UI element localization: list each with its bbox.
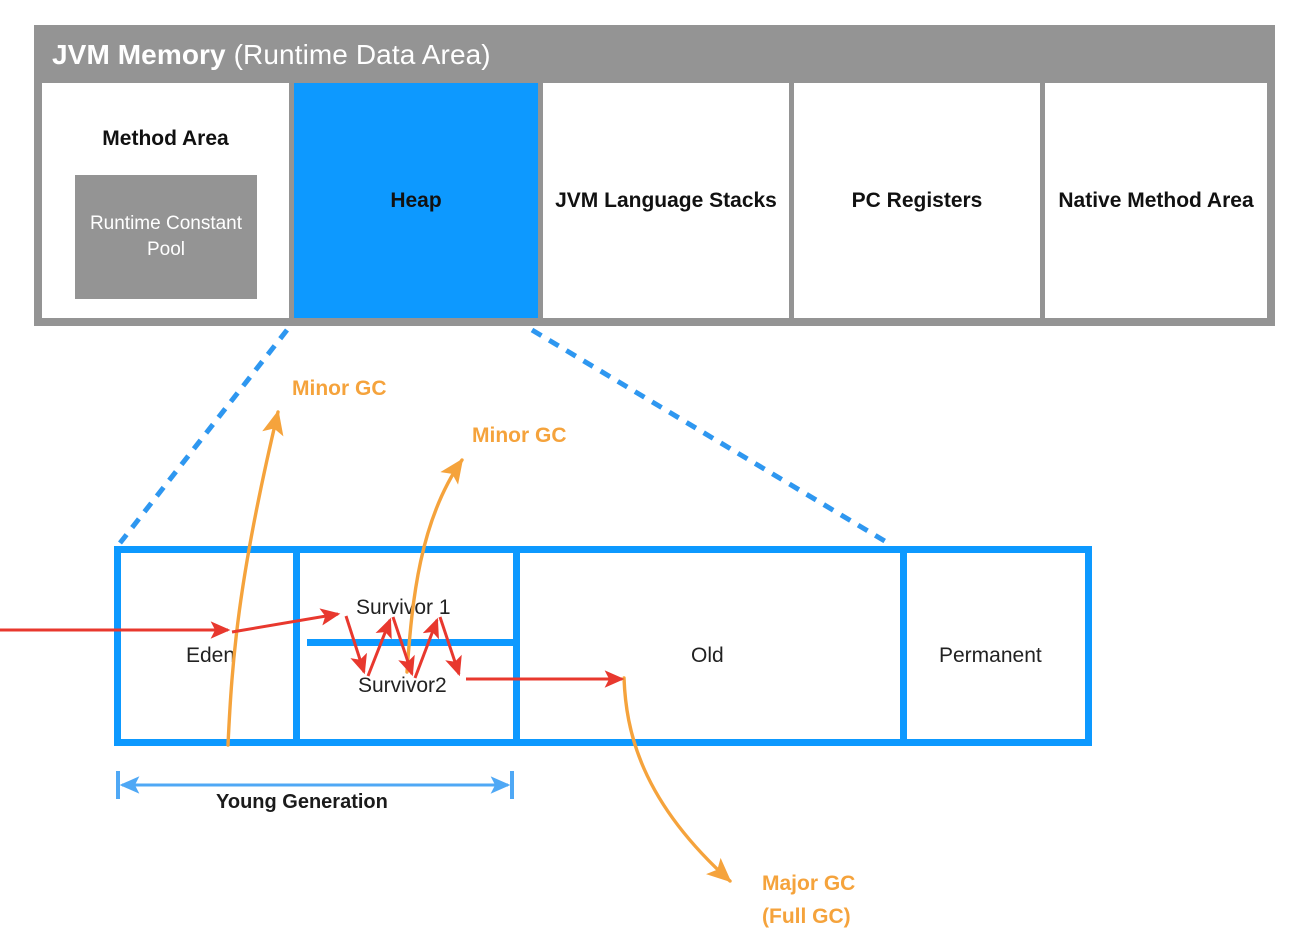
minor-gc-survivor-label: Minor GC bbox=[472, 420, 567, 453]
region-pc-registers-label: PC Registers bbox=[852, 187, 983, 215]
survivor-divider bbox=[307, 639, 513, 646]
major-gc-label: Major GC (Full GC) bbox=[762, 868, 855, 933]
heap-region-survivor2-label: Survivor2 bbox=[358, 674, 447, 698]
heap-region-permanent-label: Permanent bbox=[939, 644, 1042, 668]
major-gc-label-line2: (Full GC) bbox=[762, 901, 855, 934]
region-jvm-language-stacks-label: JVM Language Stacks bbox=[555, 187, 777, 215]
region-pc-registers[interactable]: PC Registers bbox=[794, 83, 1040, 318]
region-method-area[interactable]: Method Area Runtime Constant Pool bbox=[42, 83, 289, 318]
heap-region-eden-label: Eden bbox=[186, 644, 235, 668]
jvm-memory-container: JVM Memory (Runtime Data Area) Method Ar… bbox=[34, 25, 1275, 326]
minor-gc-eden-label: Minor GC bbox=[292, 373, 387, 406]
diagram-title: JVM Memory (Runtime Data Area) bbox=[52, 39, 491, 71]
jvm-memory-diagram: JVM Memory (Runtime Data Area) Method Ar… bbox=[0, 0, 1298, 946]
heap-expansion-line-left bbox=[120, 330, 287, 543]
heap-region-survivor-group[interactable] bbox=[307, 553, 520, 739]
region-heap[interactable]: Heap bbox=[294, 83, 538, 318]
diagram-title-light: (Runtime Data Area) bbox=[226, 39, 491, 70]
region-runtime-constant-pool[interactable]: Runtime Constant Pool bbox=[75, 175, 257, 299]
region-jvm-language-stacks[interactable]: JVM Language Stacks bbox=[543, 83, 789, 318]
heap-region-survivor1-label: Survivor 1 bbox=[356, 596, 451, 620]
jvm-memory-regions-row: Method Area Runtime Constant Pool Heap J… bbox=[42, 83, 1267, 318]
region-native-method-area-label: Native Method Area bbox=[1058, 187, 1253, 215]
heap-detail-container: Eden Survivor 1 Survivor2 Old Permanent bbox=[114, 546, 1092, 746]
heap-expansion-line-right bbox=[532, 330, 888, 543]
region-heap-label: Heap bbox=[390, 187, 441, 215]
region-method-area-label: Method Area bbox=[102, 125, 228, 153]
region-runtime-constant-pool-label: Runtime Constant Pool bbox=[75, 211, 257, 262]
region-native-method-area[interactable]: Native Method Area bbox=[1045, 83, 1267, 318]
major-gc-label-line1: Major GC bbox=[762, 868, 855, 901]
diagram-title-strong: JVM Memory bbox=[52, 39, 226, 70]
young-generation-label: Young Generation bbox=[216, 791, 388, 814]
heap-region-old-label: Old bbox=[691, 644, 724, 668]
